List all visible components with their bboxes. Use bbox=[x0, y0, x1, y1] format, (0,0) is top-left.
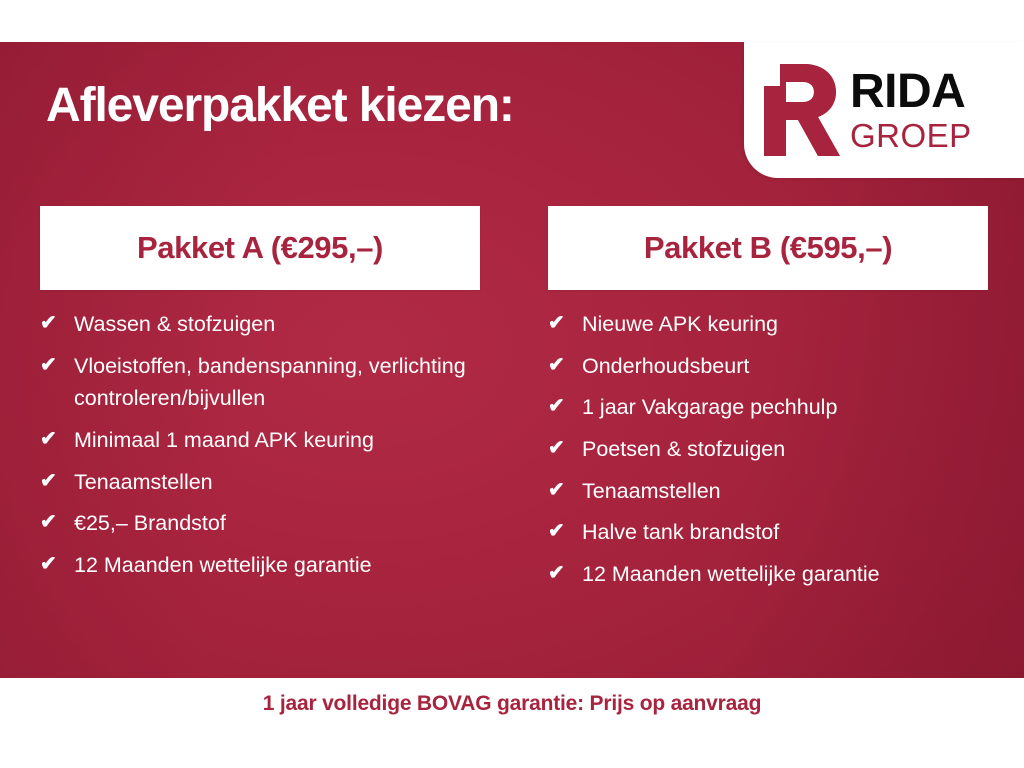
package-b-header[interactable]: Pakket B (€595,–) bbox=[548, 206, 988, 290]
package-a-title: Pakket A (€295,–) bbox=[137, 230, 383, 266]
brand-wordmark: RIDA GROEP bbox=[850, 68, 972, 152]
list-item: ✔ Poetsen & stofzuigen bbox=[548, 433, 988, 466]
footer-band: 1 jaar volledige BOVAG garantie: Prijs o… bbox=[0, 678, 1024, 768]
package-b-title: Pakket B (€595,–) bbox=[644, 230, 892, 266]
list-item-label: Onderhoudsbeurt bbox=[582, 350, 988, 383]
check-icon: ✔ bbox=[40, 350, 63, 381]
check-icon: ✔ bbox=[548, 558, 571, 589]
list-item-label: Wassen & stofzuigen bbox=[74, 308, 480, 341]
footer-note: 1 jaar volledige BOVAG garantie: Prijs o… bbox=[263, 692, 761, 716]
list-item-label: Tenaamstellen bbox=[582, 475, 988, 508]
list-item: ✔ Tenaamstellen bbox=[40, 466, 480, 499]
check-icon: ✔ bbox=[548, 433, 571, 464]
list-item-label: Poetsen & stofzuigen bbox=[582, 433, 988, 466]
package-a-feature-list: ✔ Wassen & stofzuigen ✔ Vloeistoffen, ba… bbox=[40, 308, 480, 582]
list-item: ✔ 12 Maanden wettelijke garantie bbox=[40, 549, 480, 582]
check-icon: ✔ bbox=[40, 466, 63, 497]
list-item: ✔ 1 jaar Vakgarage pechhulp bbox=[548, 391, 988, 424]
list-item: ✔ Vloeistoffen, bandenspanning, verlicht… bbox=[40, 350, 480, 415]
check-icon: ✔ bbox=[548, 516, 571, 547]
list-item-label: Tenaamstellen bbox=[74, 466, 480, 499]
list-item-label: €25,– Brandstof bbox=[74, 507, 480, 540]
check-icon: ✔ bbox=[40, 424, 63, 455]
list-item-label: Halve tank brandstof bbox=[582, 516, 988, 549]
check-icon: ✔ bbox=[548, 350, 571, 381]
package-a-header[interactable]: Pakket A (€295,–) bbox=[40, 206, 480, 290]
check-icon: ✔ bbox=[548, 308, 571, 339]
check-icon: ✔ bbox=[40, 308, 63, 339]
list-item: ✔ Onderhoudsbeurt bbox=[548, 350, 988, 383]
check-icon: ✔ bbox=[548, 475, 571, 506]
package-b-feature-list: ✔ Nieuwe APK keuring ✔ Onderhoudsbeurt ✔… bbox=[548, 308, 988, 591]
list-item: ✔ Minimaal 1 maand APK keuring bbox=[40, 424, 480, 457]
list-item-label: 1 jaar Vakgarage pechhulp bbox=[582, 391, 988, 424]
list-item-label: Minimaal 1 maand APK keuring bbox=[74, 424, 480, 457]
afleverpakket-slide: Afleverpakket kiezen: RIDA GROEP Pakket … bbox=[0, 0, 1024, 768]
list-item: ✔ Tenaamstellen bbox=[548, 475, 988, 508]
brand-name-secondary: GROEP bbox=[850, 119, 972, 152]
list-item: ✔ 12 Maanden wettelijke garantie bbox=[548, 558, 988, 591]
page-title: Afleverpakket kiezen: bbox=[46, 78, 514, 133]
check-icon: ✔ bbox=[40, 507, 63, 538]
list-item-label: 12 Maanden wettelijke garantie bbox=[74, 549, 480, 582]
list-item-label: Nieuwe APK keuring bbox=[582, 308, 988, 341]
list-item: ✔ Halve tank brandstof bbox=[548, 516, 988, 549]
check-icon: ✔ bbox=[548, 391, 571, 422]
brand-name-primary: RIDA bbox=[850, 68, 972, 116]
check-icon: ✔ bbox=[40, 549, 63, 580]
package-card-a[interactable]: Pakket A (€295,–) ✔ Wassen & stofzuigen … bbox=[40, 206, 480, 591]
list-item-label: 12 Maanden wettelijke garantie bbox=[582, 558, 988, 591]
brand-logo-panel: RIDA GROEP bbox=[744, 42, 1024, 178]
list-item: ✔ Wassen & stofzuigen bbox=[40, 308, 480, 341]
list-item: ✔ Nieuwe APK keuring bbox=[548, 308, 988, 341]
list-item-label: Vloeistoffen, bandenspanning, verlichtin… bbox=[74, 350, 480, 415]
package-card-b[interactable]: Pakket B (€595,–) ✔ Nieuwe APK keuring ✔… bbox=[548, 206, 988, 600]
list-item: ✔ €25,– Brandstof bbox=[40, 507, 480, 540]
rida-r-monogram-icon bbox=[758, 58, 844, 162]
